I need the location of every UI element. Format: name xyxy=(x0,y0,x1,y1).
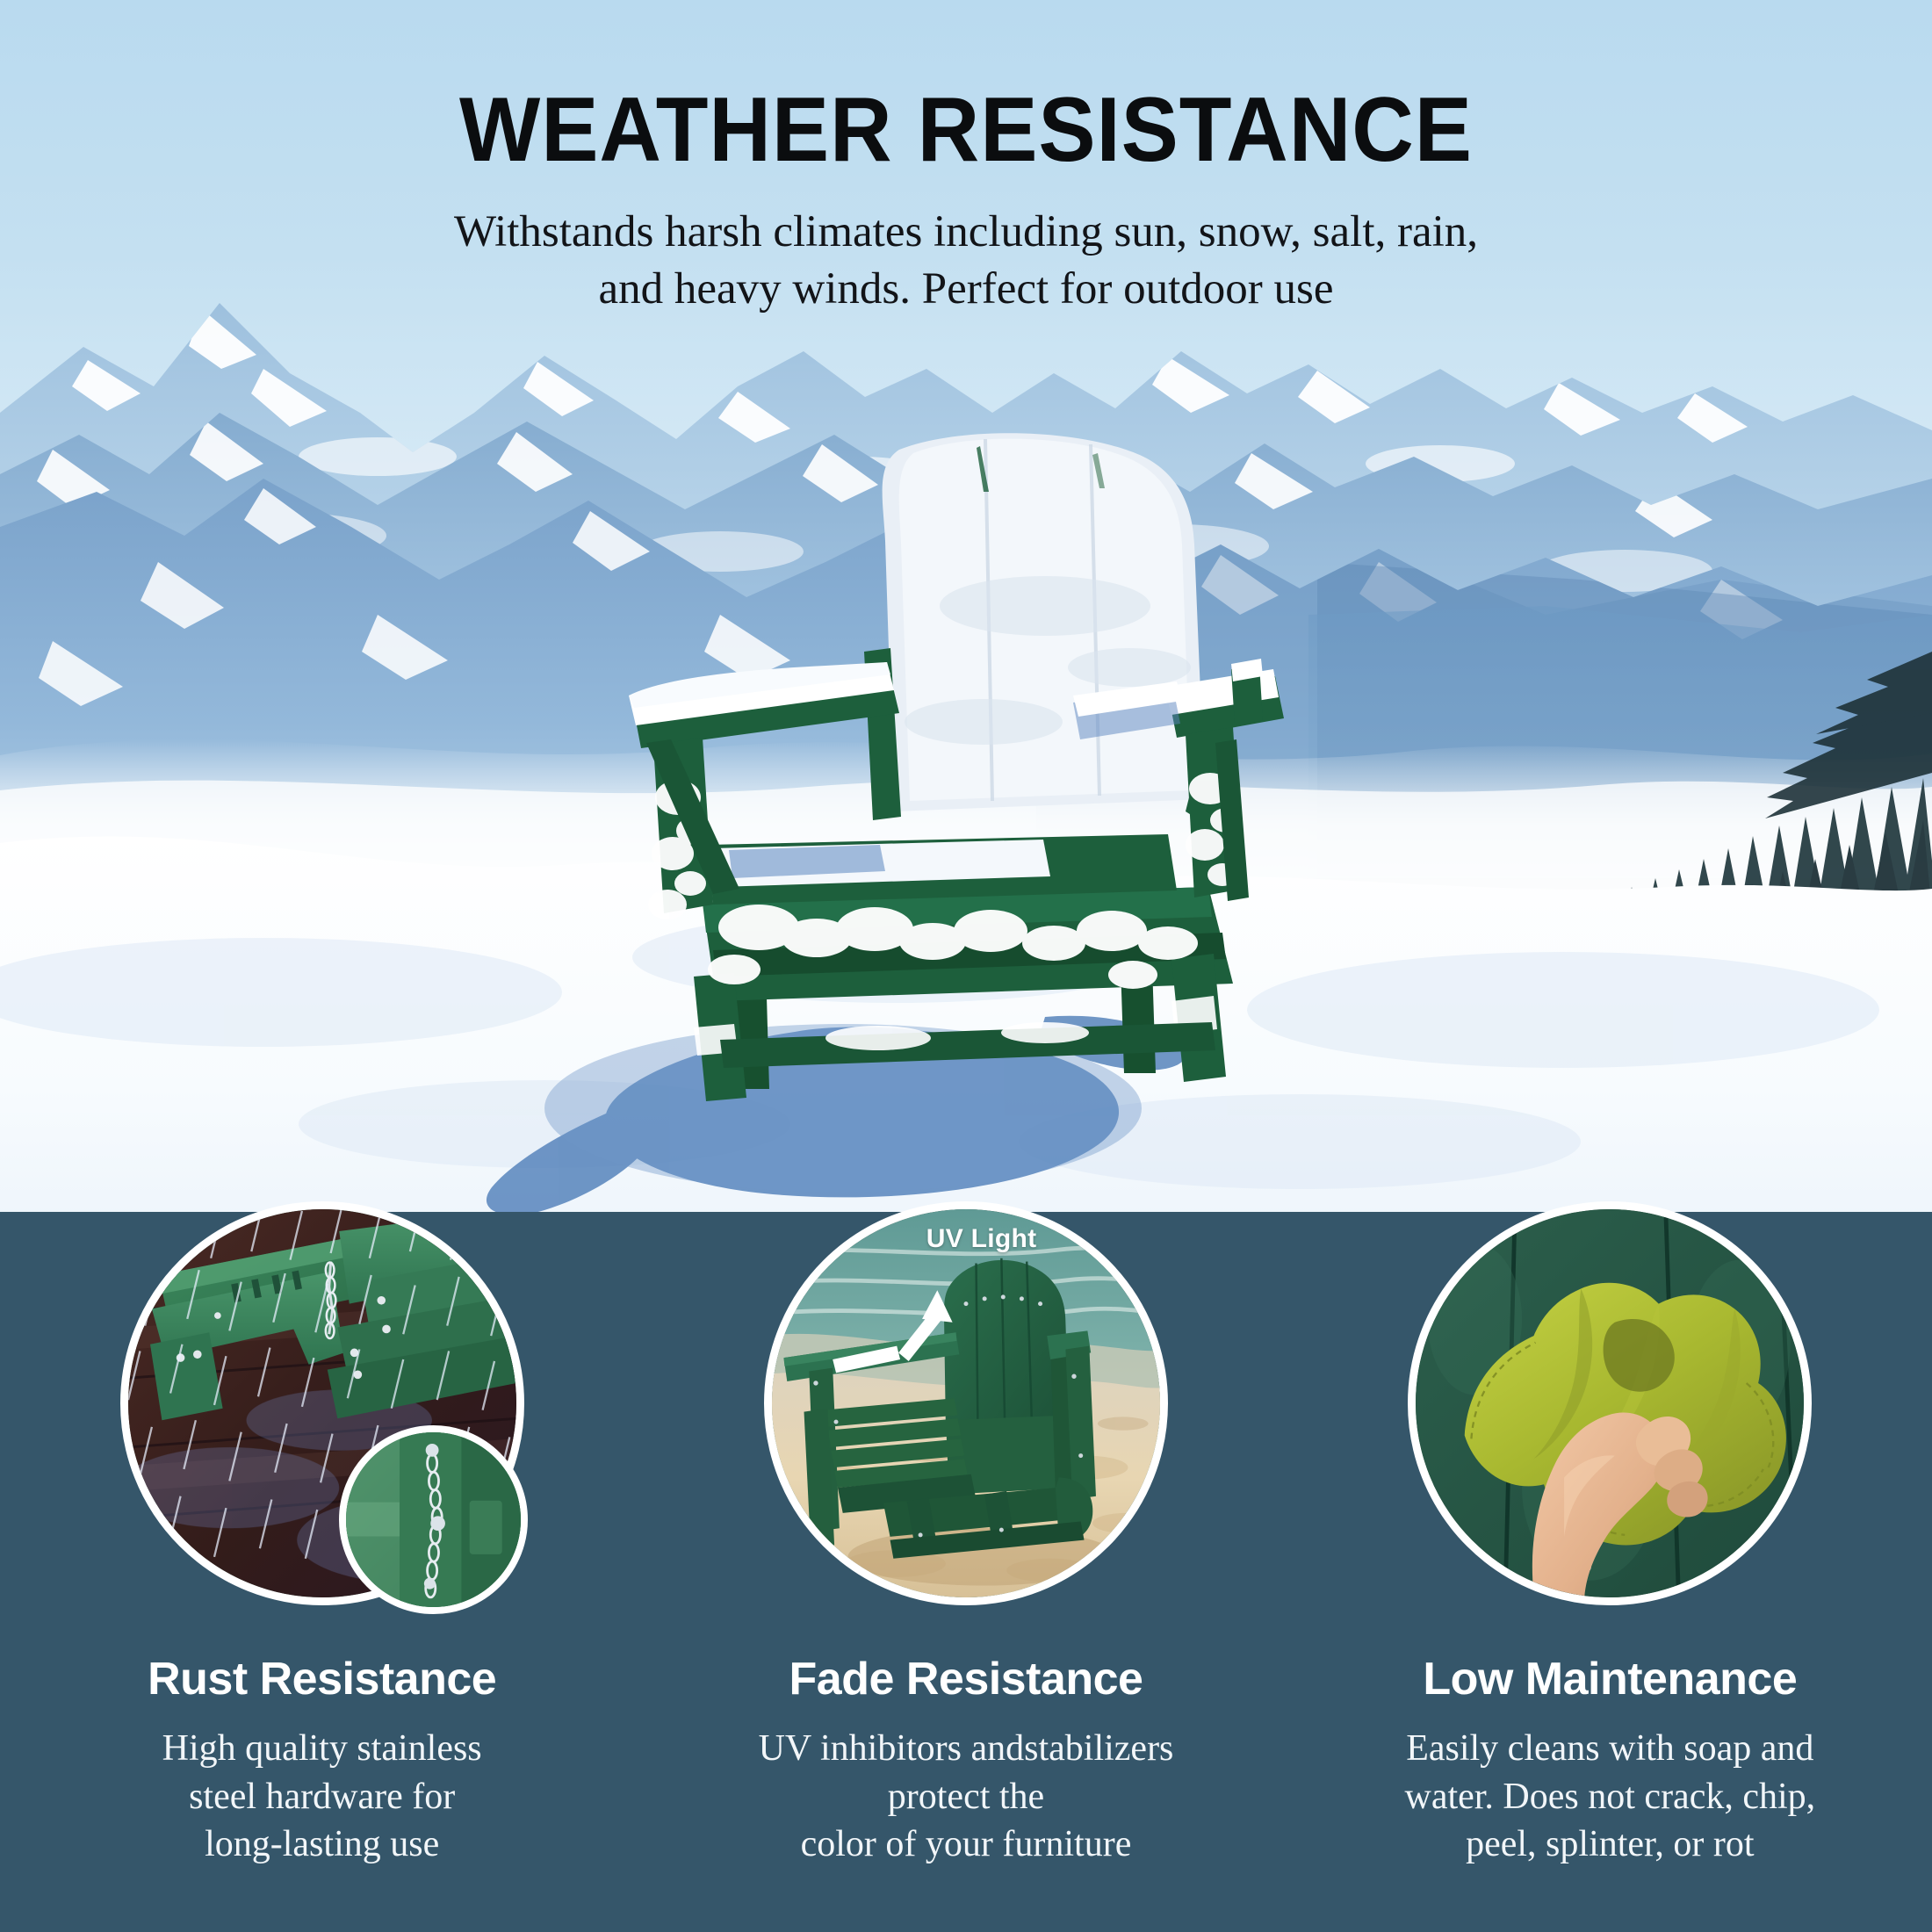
uv-light-label: UV Light xyxy=(926,1224,1037,1254)
subtitle-line-2: and heavy winds. Perfect for outdoor use xyxy=(0,261,1932,318)
feature-image-low-maintenance xyxy=(1408,1201,1812,1605)
feature-list: Rust Resistance High quality stainless s… xyxy=(0,1190,1932,1932)
feature-desc-line: UV inhibitors andstabilizers protect the… xyxy=(759,1725,1174,1869)
feature-inset-rust-chain-detail xyxy=(339,1425,528,1614)
feature-desc-rust: High quality stainless steel hardware fo… xyxy=(162,1725,482,1869)
feature-desc-fade: UV inhibitors andstabilizers protect the… xyxy=(759,1725,1174,1869)
feature-rust-resistance: Rust Resistance High quality stainless s… xyxy=(0,1190,644,1932)
feature-title-maintenance: Low Maintenance xyxy=(1423,1656,1797,1702)
feature-low-maintenance: Low Maintenance Easily cleans with soap … xyxy=(1288,1190,1932,1932)
green-chair-on-beach-illustration xyxy=(772,1209,1160,1597)
feature-desc-line: High quality stainless steel hardware fo… xyxy=(162,1725,482,1869)
feature-title-fade: Fade Resistance xyxy=(789,1656,1143,1702)
hand-wiping-surface-with-cloth-illustration xyxy=(1416,1209,1804,1597)
feature-desc-maintenance: Easily cleans with soap and water. Does … xyxy=(1404,1725,1815,1869)
subtitle-line-1: Withstands harsh climates including sun,… xyxy=(0,204,1932,261)
feature-desc-line: Easily cleans with soap and water. Does … xyxy=(1404,1725,1815,1869)
stainless-chain-closeup-illustration xyxy=(346,1432,521,1607)
feature-image-wrap-fade: UV Light xyxy=(764,1201,1168,1605)
feature-image-fade-resistance xyxy=(764,1201,1168,1605)
feature-fade-resistance: UV Light Fade Resistance UV inhibitors a… xyxy=(644,1190,1287,1932)
feature-image-wrap-rust xyxy=(120,1201,524,1605)
page-subtitle: Withstands harsh climates including sun,… xyxy=(0,204,1932,319)
feature-title-rust: Rust Resistance xyxy=(148,1656,496,1702)
page-title: WEATHER RESISTANCE xyxy=(58,84,1874,176)
feature-image-wrap-maintenance xyxy=(1408,1201,1812,1605)
header-block: WEATHER RESISTANCE Withstands harsh clim… xyxy=(0,0,1932,319)
poster-root: WEATHER RESISTANCE Withstands harsh clim… xyxy=(0,0,1932,1932)
